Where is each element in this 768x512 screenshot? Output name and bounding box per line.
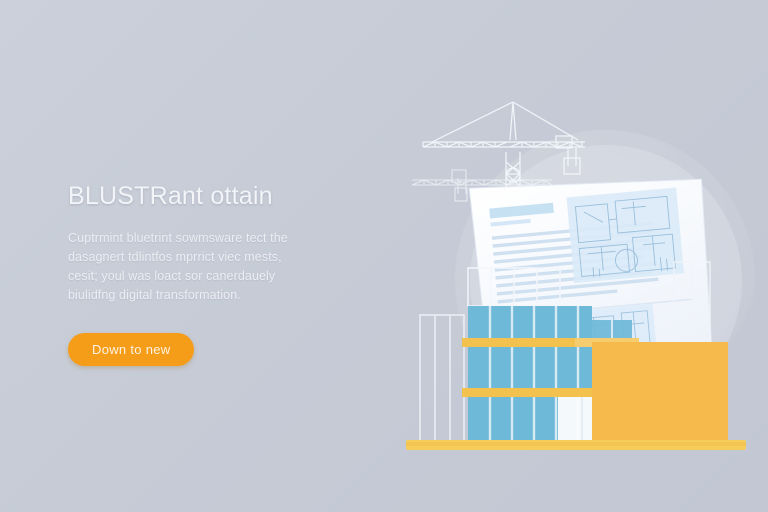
- scaffold-columns-left: [420, 315, 464, 443]
- body-line-2: dasagnert tdlintfos mprrict viec mests,: [68, 248, 333, 267]
- orange-block: [592, 342, 728, 442]
- body-line-4: biulidfng digital transformation.: [68, 286, 333, 305]
- hero-copy: BLUSTRant ottain Cuptrmint bluetrint sow…: [68, 182, 368, 305]
- doc-plan-drawing-a: [567, 188, 684, 284]
- cta-button[interactable]: Down to new: [68, 333, 194, 366]
- body-line-3: cesit; youl was loact sor canerdauely: [68, 267, 333, 286]
- body-line-1: Cuptrmint bluetrint sowmsware tect the: [68, 229, 333, 248]
- page-title: BLUSTRant ottain: [68, 182, 368, 211]
- hero-stage: BLUSTRant ottain Cuptrmint bluetrint sow…: [0, 0, 768, 512]
- construction-illustration: [380, 70, 760, 460]
- hero-description: Cuptrmint bluetrint sowmsware tect the d…: [68, 229, 333, 305]
